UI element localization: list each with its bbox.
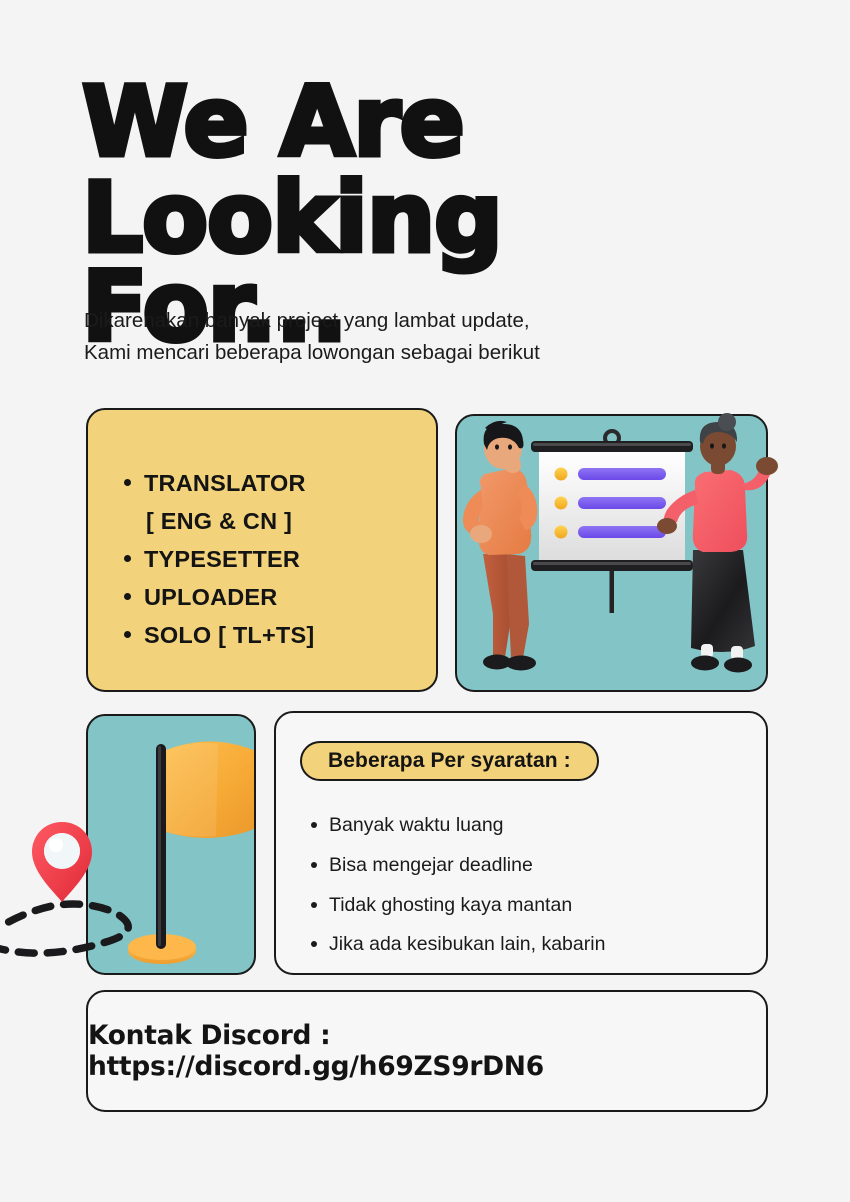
requirements-heading-label: Beberapa Per syaratan : [328, 749, 571, 773]
jobs-list: TRANSLATOR [ ENG & CN ] TYPESETTER UPLOA… [122, 464, 422, 654]
map-pin-icon [32, 822, 92, 902]
jobs-card: TRANSLATOR [ ENG & CN ] TYPESETTER UPLOA… [86, 408, 438, 692]
poster-root: We Are Looking For... Dikarenakan banyak… [0, 0, 850, 1202]
board-bar [578, 468, 666, 480]
board-dot [555, 497, 568, 510]
requirements-heading-pill: Beberapa Per syaratan : [300, 741, 599, 781]
list-item: Banyak waktu luang [310, 806, 740, 846]
subtitle: Dikarenakan banyak project yang lambat u… [84, 305, 724, 369]
presentation-illustration [455, 414, 768, 692]
list-item: Tidak ghosting kaya mantan [310, 886, 740, 926]
board-bar [578, 526, 666, 538]
discord-contact-link[interactable]: Kontak Discord : https://discord.gg/h69Z… [88, 1020, 766, 1082]
presentation-card [455, 414, 768, 692]
flag-illustration [0, 714, 256, 979]
contact-card: Kontak Discord : https://discord.gg/h69Z… [86, 990, 768, 1112]
list-item: TYPESETTER [122, 540, 422, 578]
list-item: Jika ada kesibukan lain, kabarin [310, 925, 740, 965]
list-item: TRANSLATOR [122, 464, 422, 502]
requirements-card: Beberapa Per syaratan : Banyak waktu lua… [274, 711, 768, 975]
subtitle-line-2: Kami mencari beberapa lowongan sebagai b… [84, 337, 724, 369]
list-item: SOLO [ TL+TS] [122, 616, 422, 654]
list-item: UPLOADER [122, 578, 422, 616]
flag-card [86, 714, 256, 975]
requirements-list: Banyak waktu luang Bisa mengejar deadlin… [310, 806, 740, 965]
headline-line-1: We Are [82, 66, 464, 178]
subtitle-line-1: Dikarenakan banyak project yang lambat u… [84, 305, 724, 337]
list-item: Bisa mengejar deadline [310, 846, 740, 886]
board-dot [555, 526, 568, 539]
board-bar [578, 497, 666, 509]
list-item: [ ENG & CN ] [122, 502, 422, 540]
board-dot [555, 468, 568, 481]
